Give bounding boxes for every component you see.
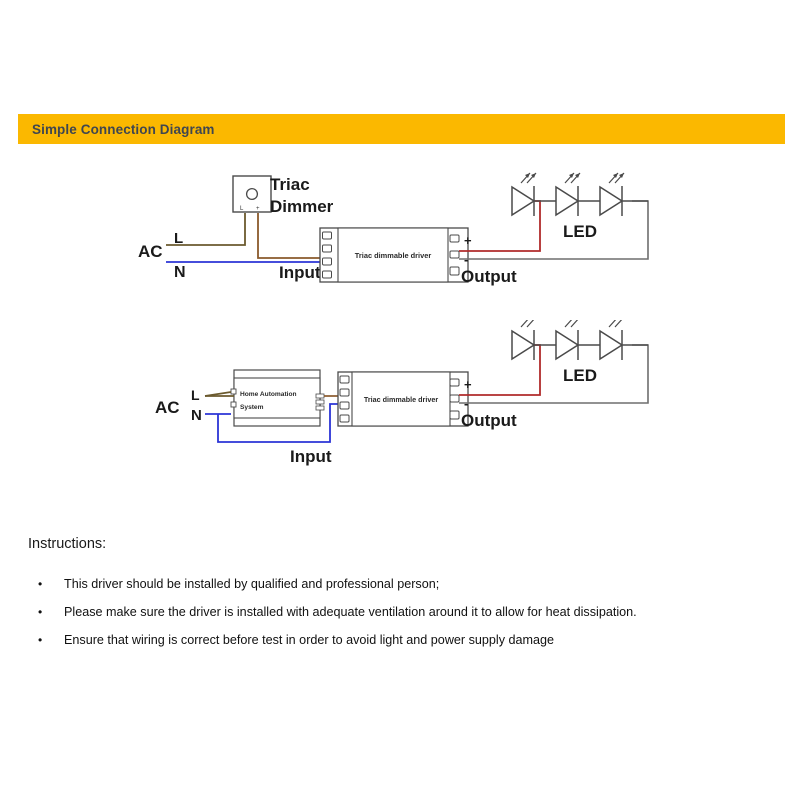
list-item-text: This driver should be installed by quali… [64, 577, 439, 591]
led-chain [512, 320, 648, 360]
driver-input-terminal-3 [340, 402, 349, 409]
output-label: Output [461, 267, 517, 286]
home-automation-output-terminal-1 [316, 394, 324, 398]
input-label: Input [290, 447, 332, 466]
driver-output-terminal-2 [450, 395, 459, 402]
home-automation-label-line2: System [240, 404, 264, 411]
bullet-glyph: • [38, 630, 42, 651]
driver-input-terminal-2 [340, 389, 349, 396]
live-terminal-label: L [191, 387, 200, 403]
home-automation-inner-body [234, 378, 320, 418]
output-positive-label: + [464, 377, 472, 392]
driver-output-terminal-3 [450, 411, 459, 419]
bullet-glyph: • [38, 602, 42, 623]
driver-input-terminal-4 [323, 271, 332, 278]
driver-output-terminal-1 [450, 379, 459, 386]
neutral-terminal-label: N [191, 407, 202, 424]
home-automation-input-terminal-2 [231, 402, 236, 407]
triac-dimmer-label-line1: Triac [270, 175, 310, 194]
led-symbol [512, 320, 556, 360]
led-symbol [512, 173, 556, 216]
list-item: • Ensure that wiring is correct before t… [28, 630, 768, 651]
ac-source-label: AC [155, 398, 180, 417]
list-item: • This driver should be installed by qua… [28, 574, 768, 595]
driver-input-terminal-4 [340, 415, 349, 422]
section-header-banner: Simple Connection Diagram [18, 114, 785, 144]
dimmer-output-wire-to-driver [258, 213, 320, 258]
home-automation-output-terminal-2 [316, 400, 324, 404]
led-group-label: LED [563, 222, 597, 241]
instructions-list: • This driver should be installed by qua… [28, 574, 768, 651]
driver-input-terminal-3 [323, 258, 332, 265]
diagram-home-automation: AC L N Home Automation System Input Tria… [0, 320, 800, 480]
dimmer-knob-icon [247, 189, 258, 200]
led-symbol [556, 173, 600, 216]
list-item: • Please make sure the driver is install… [28, 602, 768, 623]
list-item-text: Ensure that wiring is correct before tes… [64, 633, 554, 647]
driver-input-terminal-1 [340, 376, 349, 383]
ac-source-label: AC [138, 242, 163, 261]
led-symbol [600, 320, 648, 360]
driver-label: Triac dimmable driver [355, 251, 432, 260]
bullet-glyph: • [38, 574, 42, 595]
driver-input-terminal-2 [323, 245, 332, 252]
driver-output-terminal-2 [450, 251, 459, 258]
driver-input-terminal-1 [323, 232, 332, 239]
diagram-triac-dimmer: L + Triac Dimmer AC L N Input Triac dimm… [0, 165, 800, 305]
led-symbol [600, 173, 648, 216]
dimmer-terminal-plus-label: + [256, 206, 260, 212]
neutral-terminal-label: N [174, 264, 186, 281]
input-label: Input [279, 263, 321, 282]
triac-dimmer-label-line2: Dimmer [270, 197, 334, 216]
instructions-section: Instructions: • This driver should be in… [28, 536, 768, 658]
list-item-text: Please make sure the driver is installed… [64, 605, 637, 619]
page-title: Simple Connection Diagram [32, 122, 215, 137]
home-automation-input-terminal-1 [231, 389, 236, 394]
led-chain [512, 173, 648, 216]
instructions-heading: Instructions: [28, 536, 768, 552]
led-group-label: LED [563, 366, 597, 385]
driver-output-terminal-1 [450, 235, 459, 242]
led-symbol [556, 320, 600, 360]
driver-output-terminal-3 [450, 267, 459, 275]
output-positive-label: + [464, 233, 472, 248]
home-automation-label-line1: Home Automation [240, 391, 297, 398]
output-label: Output [461, 411, 517, 430]
driver-label: Triac dimmable driver [364, 395, 439, 404]
home-automation-output-terminal-3 [316, 406, 324, 410]
